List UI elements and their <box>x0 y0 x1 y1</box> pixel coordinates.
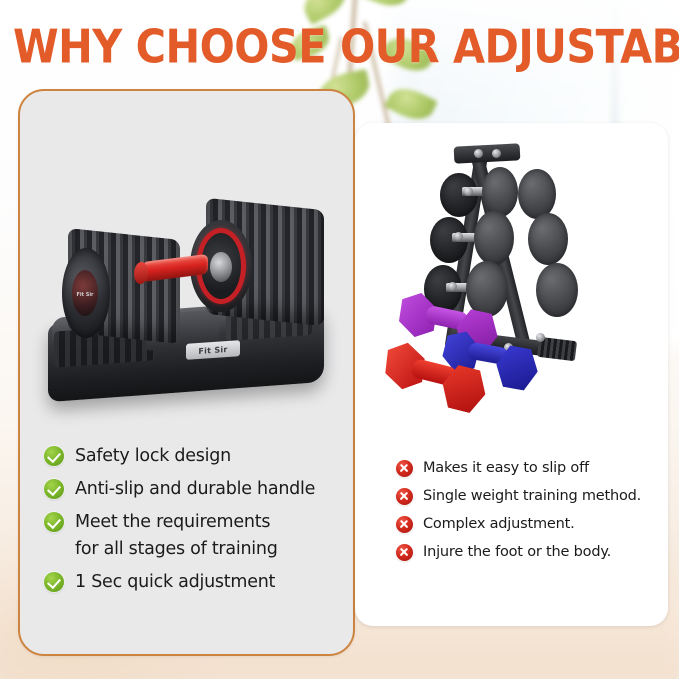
endcap-brand-text: Fit Sir <box>71 292 99 298</box>
rack-bolt <box>474 149 483 158</box>
benefit-label: 1 Sec quick adjustment <box>75 571 275 593</box>
rack-bolt <box>492 149 501 158</box>
list-item: Anti-slip and durable handle <box>44 478 344 500</box>
rack-bolt <box>536 333 545 342</box>
list-item: Single weight training method. <box>396 487 661 506</box>
benefit-label: Anti-slip and durable handle <box>75 478 315 500</box>
check-icon <box>44 479 64 499</box>
adjustable-dumbbell-image: Fit Sir Fit Sir <box>30 196 340 431</box>
check-icon <box>44 512 64 532</box>
rack-top-bracket <box>454 143 521 163</box>
drawback-label: Injure the foot or the body. <box>423 543 611 562</box>
cross-icon <box>396 488 413 505</box>
list-item: Complex adjustment. <box>396 515 661 534</box>
drawbacks-list: Makes it easy to slip off Single weight … <box>396 459 661 571</box>
adjustment-dial-hub <box>210 252 232 282</box>
cross-icon <box>396 544 413 561</box>
drawback-label: Makes it easy to slip off <box>423 459 589 478</box>
list-item: Safety lock design <box>44 445 344 467</box>
drawback-label: Single weight training method. <box>423 487 641 506</box>
check-icon <box>44 572 64 592</box>
dumbbell-rack-image <box>386 145 646 415</box>
benefits-list: Safety lock design Anti-slip and durable… <box>44 445 344 604</box>
benefit-label: Safety lock design <box>75 445 231 467</box>
list-item: Meet the requirements <box>44 511 344 533</box>
page-title: WHY CHOOSE OUR ADJUSTABLE DUMBBELLS <box>13 24 679 77</box>
list-item: Injure the foot or the body. <box>396 543 661 562</box>
drawback-label: Complex adjustment. <box>423 515 575 534</box>
check-icon <box>44 446 64 466</box>
benefit-label-continuation: for all stages of training <box>75 538 344 560</box>
cross-icon <box>396 516 413 533</box>
list-item: Makes it easy to slip off <box>396 459 661 478</box>
infographic-canvas: WHY CHOOSE OUR ADJUSTABLE DUMBBELLS Fit … <box>0 0 679 679</box>
cross-icon <box>396 460 413 477</box>
list-item: 1 Sec quick adjustment <box>44 571 344 593</box>
benefit-label: Meet the requirements <box>75 511 270 533</box>
